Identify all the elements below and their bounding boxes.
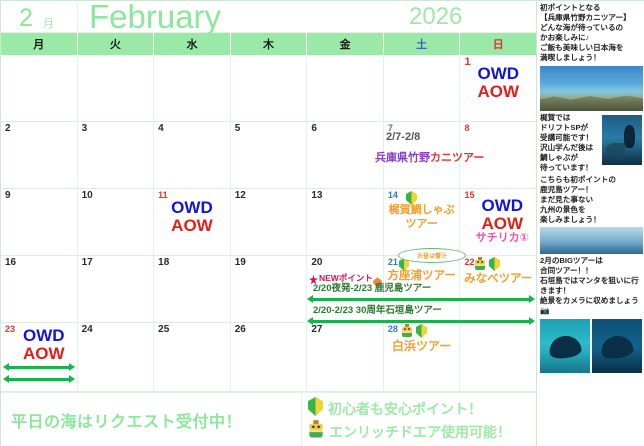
bar-arrow-left xyxy=(307,317,313,325)
header-divider xyxy=(77,3,78,31)
day-cell-11[interactable]: 11 OWD AOW xyxy=(154,189,231,255)
beginner-leaf-icon xyxy=(308,397,323,421)
day-cell-26[interactable]: 26 xyxy=(231,323,308,391)
day-cell-22[interactable]: 22 みなべツア xyxy=(460,256,536,322)
day-cell-16[interactable]: 16 xyxy=(1,256,78,322)
day-number: 19 xyxy=(235,258,246,268)
course-owd-label: OWD xyxy=(154,199,230,217)
day-cell-empty xyxy=(1,55,78,121)
multiday-bar-ishigaki xyxy=(307,317,535,326)
sidebar-block-ishigaki: 2月のBIGツアーは 合同ツアー！！ 石垣島ではマンタを狙いに行 きます！ 絶景… xyxy=(540,256,642,373)
photo-rock-shape xyxy=(540,92,643,111)
photo-manta-blue xyxy=(592,319,643,373)
day-number: 18 xyxy=(158,258,169,268)
day-cell-empty xyxy=(78,55,155,121)
multiday-bar-kagoshima-cont xyxy=(3,363,75,372)
weekday-thu: 木 xyxy=(231,33,308,55)
day-number: 12 xyxy=(235,191,246,201)
tour-minabe: みなべツアー xyxy=(460,272,536,286)
day-cell-5[interactable]: 5 xyxy=(231,122,308,188)
day-cell-9[interactable]: 9 xyxy=(1,189,78,255)
photo-manta-shape xyxy=(548,333,582,359)
sidebar-block-kajika-text: 梶賀では ドリフトSPが 受講可能です！ 沢山学んだ後は 鯛しゃぶが 待っていま… xyxy=(540,113,602,173)
day-number: 28 xyxy=(388,325,398,334)
event-takeno-pref: 兵庫県竹野 xyxy=(375,152,430,164)
new-point-text: NEWポイント xyxy=(319,273,373,283)
photo-manta-shape xyxy=(599,333,634,359)
month-name-english: February xyxy=(89,0,221,36)
course-aow-label: AOW xyxy=(154,217,230,235)
day-cell-24[interactable]: 24 xyxy=(78,323,155,391)
day-cell-14[interactable]: 14 梶賀鯛しゃぶ ツアー xyxy=(384,189,461,255)
course-aow-label: AOW xyxy=(468,215,536,233)
enriched-air-tank-icon xyxy=(474,257,486,271)
month-number: 2 xyxy=(19,4,34,33)
weekday-tue: 火 xyxy=(78,33,155,55)
enriched-air-tank-icon xyxy=(401,324,413,338)
calendar-week-4: 16 17 18 19 20 21 方座浦ツアー 22 xyxy=(1,256,536,323)
bar-arrow-right xyxy=(529,317,535,325)
photo-diver-shape xyxy=(624,125,634,148)
day-number: 27 xyxy=(311,325,322,335)
course-owd-label: OWD xyxy=(468,197,536,215)
bar-arrow-right xyxy=(69,363,75,371)
day-cell-empty xyxy=(460,323,536,391)
banner-weekday-request-text: 平日の海はリクエスト受付中！ xyxy=(11,408,242,432)
course-owd-aow: OWD AOW xyxy=(11,327,77,363)
bar-arrow-right xyxy=(69,375,75,383)
calendar-grid: 1 OWD AOW 2 3 4 5 6 7 8 xyxy=(1,55,536,392)
day-cell-empty xyxy=(384,55,461,121)
day-cell-17[interactable]: 17 xyxy=(78,256,155,322)
banner-weekday-request: 平日の海はリクエスト受付中！ xyxy=(1,392,301,446)
day-cell-3[interactable]: 3 xyxy=(78,122,155,188)
course-owd-aow: OWD AOW サチリカ① xyxy=(468,197,536,244)
day-cell-empty xyxy=(154,55,231,121)
day-number: 13 xyxy=(311,191,322,201)
sidebar-block-kagoshima-text: こちらも初ポイントの 鹿児島ツアー！ まだ見た事ない 九州の景色を 楽しみましょ… xyxy=(540,175,642,225)
day-cell-6[interactable]: 6 xyxy=(307,122,384,188)
day-number: 25 xyxy=(158,325,169,335)
course-sachirika-label: サチリカ① xyxy=(468,233,536,245)
calendar-week-3: 9 10 11 OWD AOW 12 13 14 xyxy=(1,189,536,256)
weekday-sat: 土 xyxy=(384,33,461,55)
legend-enriched-air-text: エンリッチドエア使用可能！ xyxy=(329,422,511,442)
sidebar-block-takeno: 初ポイントとなる 【兵庫県竹野カニツアー】 どんな海が待っているの かお楽しみに… xyxy=(540,3,642,111)
day-cell-28[interactable]: 28 白浜ツアー xyxy=(384,323,461,391)
day-cell-18[interactable]: 18 xyxy=(154,256,231,322)
oval-callout-lunch: お昼は蟹汁 xyxy=(398,248,466,263)
month-kanji: 月 xyxy=(43,15,54,31)
tour-kajika-line1: 梶賀鯛しゃぶ xyxy=(389,204,455,216)
sidebar-block-kajika: 梶賀では ドリフトSPが 受講可能です！ 沢山学んだ後は 鯛しゃぶが 待っていま… xyxy=(540,113,642,173)
photo-manta-teal xyxy=(540,319,590,373)
day-number: 4 xyxy=(158,124,164,134)
day-cell-12[interactable]: 12 xyxy=(231,189,308,255)
day-number: 21 xyxy=(388,258,398,267)
event-takeno-title: 兵庫県竹野カニツアー xyxy=(375,152,484,165)
day-cell-empty xyxy=(231,55,308,121)
multiday-bar-ishigaki-cont xyxy=(3,375,75,384)
day-number: 16 xyxy=(5,258,16,268)
sidebar-block-ishigaki-text: 2月のBIGツアーは 合同ツアー！！ 石垣島ではマンタを狙いに行 きます！ 絶景… xyxy=(540,256,642,316)
day-cell-19[interactable]: 19 xyxy=(231,256,308,322)
day-number: 9 xyxy=(5,191,11,201)
day-number: 26 xyxy=(235,325,246,335)
day-number: 3 xyxy=(82,124,88,134)
day-cell-25[interactable]: 25 xyxy=(154,323,231,391)
day-number: 20 xyxy=(311,258,322,268)
bar-label-ishigaki: 2/20-2/23 30周年石垣島ツアー xyxy=(313,306,442,316)
day-number: 10 xyxy=(82,191,93,201)
day-cell-15[interactable]: 15 OWD AOW サチリカ① xyxy=(460,189,536,255)
day-cell-10[interactable]: 10 xyxy=(78,189,155,255)
bar-arrow-left xyxy=(307,295,313,303)
tour-shirahama: 白浜ツアー xyxy=(384,339,460,354)
day-cell-2[interactable]: 2 xyxy=(1,122,78,188)
photo-fish-shape xyxy=(606,143,625,156)
day-number: 17 xyxy=(82,258,93,268)
beginner-leaf-icon xyxy=(489,257,500,271)
legend-enriched-air: エンリッチドエア使用可能！ xyxy=(308,420,536,443)
enriched-air-tank-icon xyxy=(308,420,324,444)
course-aow-label: AOW xyxy=(460,83,536,101)
calendar-week-1: 1 OWD AOW xyxy=(1,55,536,122)
banner-legend: 初心者も安心ポイント！ エンリッチドエア使用可能！ xyxy=(301,392,536,446)
photo-row-ishigaki xyxy=(540,319,642,373)
course-owd-label: OWD xyxy=(11,327,77,345)
year-label: 2026 xyxy=(409,3,462,31)
calendar-week-5: 23 OWD AOW 24 25 26 27 28 xyxy=(1,323,536,392)
beginner-leaf-icon xyxy=(416,324,427,338)
beginner-leaf-icon xyxy=(406,191,417,205)
legend-beginner-text: 初心者も安心ポイント！ xyxy=(328,399,482,419)
day-number: 2 xyxy=(5,124,11,134)
multiday-bar-kagoshima xyxy=(307,295,535,304)
sidebar-block-kagoshima: こちらも初ポイントの 鹿児島ツアー！ まだ見た事ない 九州の景色を 楽しみましょ… xyxy=(540,175,642,254)
course-owd-aow: OWD AOW xyxy=(154,199,230,235)
day-cell-4[interactable]: 4 xyxy=(154,122,231,188)
tour-kajika-line2: ツアー xyxy=(406,218,438,230)
course-aow-label: AOW xyxy=(11,345,77,363)
day-number: 5 xyxy=(235,124,241,134)
photo-takeno-coast xyxy=(540,66,643,111)
day-number: 6 xyxy=(311,124,317,134)
day-cell-empty xyxy=(307,55,384,121)
calendar-header: 2 月 February 2026 xyxy=(1,1,536,33)
photo-kagoshima-sea xyxy=(540,227,643,254)
tour-kajika: 梶賀鯛しゃぶ ツアー xyxy=(384,204,460,232)
sidebar-block-takeno-text: 初ポイントとなる 【兵庫県竹野カニツアー】 どんな海が待っているの かお楽しみに… xyxy=(540,3,642,63)
bar-line xyxy=(8,378,70,381)
legend-beginner: 初心者も安心ポイント！ xyxy=(308,397,536,420)
event-takeno-dates: 2/7-2/8 xyxy=(386,131,420,144)
day-cell-1[interactable]: 1 OWD AOW xyxy=(460,55,536,121)
photo-kajika-diver xyxy=(602,115,642,165)
sidebar: 初ポイントとなる 【兵庫県竹野カニツアー】 どんな海が待っているの かお楽しみに… xyxy=(536,1,644,446)
day-cell-13[interactable]: 13 xyxy=(307,189,384,255)
bar-label-kagoshima: 2/20夜発-2/23 鹿児島ツアー xyxy=(313,284,431,294)
bar-line xyxy=(312,320,530,323)
day-number: 22 xyxy=(464,258,474,267)
weekday-header-row: 月 火 水 木 金 土 日 xyxy=(1,33,536,55)
bar-arrow-right xyxy=(529,295,535,303)
tour-hozaura: 方座浦ツアー xyxy=(384,269,460,283)
weekday-mon: 月 xyxy=(1,33,78,55)
bar-arrow-left xyxy=(3,363,9,371)
calendar-page: 2 月 February 2026 月 火 水 木 金 土 日 1 OWD xyxy=(0,0,644,446)
weekday-wed: 水 xyxy=(154,33,231,55)
day-number: 24 xyxy=(82,325,93,335)
course-owd-aow: OWD AOW xyxy=(460,65,536,101)
day-number: 14 xyxy=(388,191,398,200)
course-owd-label: OWD xyxy=(460,65,536,83)
new-point-label: NEWポイント xyxy=(319,274,373,283)
weekday-sun: 日 xyxy=(460,33,536,55)
day-number: 8 xyxy=(464,124,469,133)
bar-line xyxy=(8,366,70,369)
bar-arrow-left xyxy=(3,375,9,383)
bar-line xyxy=(312,298,530,301)
event-takeno-crab: カニツアー xyxy=(430,152,484,164)
day-cell-27[interactable]: 27 xyxy=(307,323,384,391)
weekday-fri: 金 xyxy=(307,33,384,55)
